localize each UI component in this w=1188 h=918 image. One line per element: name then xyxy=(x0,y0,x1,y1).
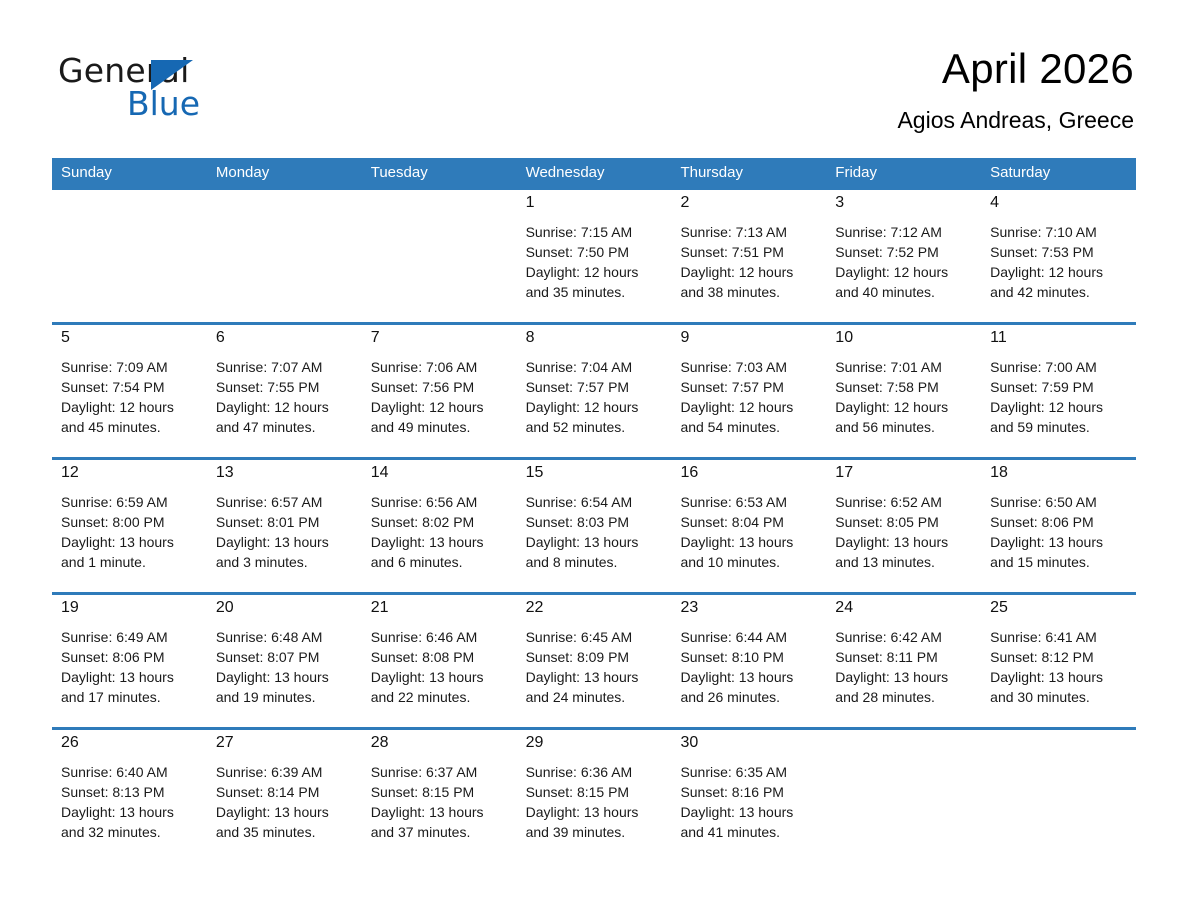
day-info: Sunrise: 7:01 AM Sunset: 7:58 PM Dayligh… xyxy=(835,357,975,437)
day-cell[interactable]: 1 Sunrise: 7:15 AM Sunset: 7:50 PM Dayli… xyxy=(517,190,672,322)
day-number: 20 xyxy=(216,598,234,618)
daylight-text-line1: Daylight: 12 hours xyxy=(526,397,666,417)
daylight-text-line1: Daylight: 12 hours xyxy=(835,262,975,282)
day-cell[interactable]: 19 Sunrise: 6:49 AM Sunset: 8:06 PM Dayl… xyxy=(52,595,207,727)
week-row: 5 Sunrise: 7:09 AM Sunset: 7:54 PM Dayli… xyxy=(52,322,1136,457)
day-cell[interactable]: 17 Sunrise: 6:52 AM Sunset: 8:05 PM Dayl… xyxy=(826,460,981,592)
daylight-text-line2: and 32 minutes. xyxy=(61,822,201,842)
day-number: 28 xyxy=(371,733,389,753)
sunset-text: Sunset: 8:00 PM xyxy=(61,512,201,532)
sunset-text: Sunset: 7:59 PM xyxy=(990,377,1130,397)
day-cell-empty xyxy=(52,190,207,322)
day-info: Sunrise: 6:35 AM Sunset: 8:16 PM Dayligh… xyxy=(680,762,820,842)
day-cell[interactable]: 14 Sunrise: 6:56 AM Sunset: 8:02 PM Dayl… xyxy=(362,460,517,592)
sunrise-text: Sunrise: 7:01 AM xyxy=(835,357,975,377)
sunrise-text: Sunrise: 6:48 AM xyxy=(216,627,356,647)
day-cell[interactable]: 16 Sunrise: 6:53 AM Sunset: 8:04 PM Dayl… xyxy=(671,460,826,592)
day-number: 15 xyxy=(526,463,544,483)
daylight-text-line2: and 13 minutes. xyxy=(835,552,975,572)
daylight-text-line1: Daylight: 13 hours xyxy=(61,802,201,822)
day-number: 18 xyxy=(990,463,1008,483)
daylight-text-line2: and 30 minutes. xyxy=(990,687,1130,707)
sunset-text: Sunset: 7:53 PM xyxy=(990,242,1130,262)
page-header: General Blue April 2026 Agios Andreas, G… xyxy=(0,0,1188,150)
day-info: Sunrise: 7:09 AM Sunset: 7:54 PM Dayligh… xyxy=(61,357,201,437)
sunrise-text: Sunrise: 7:15 AM xyxy=(526,222,666,242)
sunset-text: Sunset: 8:15 PM xyxy=(526,782,666,802)
daylight-text-line2: and 26 minutes. xyxy=(680,687,820,707)
daylight-text-line2: and 10 minutes. xyxy=(680,552,820,572)
daylight-text-line2: and 8 minutes. xyxy=(526,552,666,572)
sunset-text: Sunset: 8:08 PM xyxy=(371,647,511,667)
sunset-text: Sunset: 8:12 PM xyxy=(990,647,1130,667)
day-cell[interactable]: 5 Sunrise: 7:09 AM Sunset: 7:54 PM Dayli… xyxy=(52,325,207,457)
day-number: 21 xyxy=(371,598,389,618)
sunrise-text: Sunrise: 6:46 AM xyxy=(371,627,511,647)
daylight-text-line1: Daylight: 13 hours xyxy=(371,532,511,552)
day-cell[interactable]: 9 Sunrise: 7:03 AM Sunset: 7:57 PM Dayli… xyxy=(671,325,826,457)
day-number: 1 xyxy=(526,193,535,213)
daylight-text-line1: Daylight: 12 hours xyxy=(371,397,511,417)
sunrise-text: Sunrise: 6:39 AM xyxy=(216,762,356,782)
day-cell[interactable]: 30 Sunrise: 6:35 AM Sunset: 8:16 PM Dayl… xyxy=(671,730,826,862)
day-cell[interactable]: 24 Sunrise: 6:42 AM Sunset: 8:11 PM Dayl… xyxy=(826,595,981,727)
day-number: 19 xyxy=(61,598,79,618)
day-cell[interactable]: 2 Sunrise: 7:13 AM Sunset: 7:51 PM Dayli… xyxy=(671,190,826,322)
sunset-text: Sunset: 7:51 PM xyxy=(680,242,820,262)
daylight-text-line2: and 35 minutes. xyxy=(216,822,356,842)
day-number: 13 xyxy=(216,463,234,483)
day-cell[interactable]: 12 Sunrise: 6:59 AM Sunset: 8:00 PM Dayl… xyxy=(52,460,207,592)
day-info: Sunrise: 6:57 AM Sunset: 8:01 PM Dayligh… xyxy=(216,492,356,572)
daylight-text-line1: Daylight: 13 hours xyxy=(526,802,666,822)
sunset-text: Sunset: 8:09 PM xyxy=(526,647,666,667)
daylight-text-line1: Daylight: 12 hours xyxy=(526,262,666,282)
sunrise-text: Sunrise: 6:59 AM xyxy=(61,492,201,512)
weekday-header-wednesday: Wednesday xyxy=(517,164,672,182)
day-info: Sunrise: 7:10 AM Sunset: 7:53 PM Dayligh… xyxy=(990,222,1130,302)
day-number: 14 xyxy=(371,463,389,483)
sunset-text: Sunset: 8:07 PM xyxy=(216,647,356,667)
day-info: Sunrise: 6:44 AM Sunset: 8:10 PM Dayligh… xyxy=(680,627,820,707)
day-info: Sunrise: 7:07 AM Sunset: 7:55 PM Dayligh… xyxy=(216,357,356,437)
daylight-text-line2: and 15 minutes. xyxy=(990,552,1130,572)
day-number: 29 xyxy=(526,733,544,753)
day-info: Sunrise: 6:53 AM Sunset: 8:04 PM Dayligh… xyxy=(680,492,820,572)
day-number: 9 xyxy=(680,328,689,348)
daylight-text-line2: and 59 minutes. xyxy=(990,417,1130,437)
day-number: 22 xyxy=(526,598,544,618)
day-info: Sunrise: 6:42 AM Sunset: 8:11 PM Dayligh… xyxy=(835,627,975,707)
daylight-text-line1: Daylight: 13 hours xyxy=(216,532,356,552)
daylight-text-line1: Daylight: 12 hours xyxy=(990,262,1130,282)
sunrise-text: Sunrise: 6:56 AM xyxy=(371,492,511,512)
sunset-text: Sunset: 8:02 PM xyxy=(371,512,511,532)
sunrise-text: Sunrise: 7:03 AM xyxy=(680,357,820,377)
day-info: Sunrise: 6:41 AM Sunset: 8:12 PM Dayligh… xyxy=(990,627,1130,707)
title-block: April 2026 Agios Andreas, Greece xyxy=(897,44,1134,134)
weekday-header-sunday: Sunday xyxy=(52,164,207,182)
sunset-text: Sunset: 7:52 PM xyxy=(835,242,975,262)
sunset-text: Sunset: 8:15 PM xyxy=(371,782,511,802)
day-cell-empty xyxy=(981,730,1136,862)
day-cell[interactable]: 11 Sunrise: 7:00 AM Sunset: 7:59 PM Dayl… xyxy=(981,325,1136,457)
weekday-header-friday: Friday xyxy=(826,164,981,182)
daylight-text-line2: and 39 minutes. xyxy=(526,822,666,842)
day-number: 2 xyxy=(680,193,689,213)
sunset-text: Sunset: 8:05 PM xyxy=(835,512,975,532)
day-info: Sunrise: 7:15 AM Sunset: 7:50 PM Dayligh… xyxy=(526,222,666,302)
logo-text-blue: Blue xyxy=(127,85,200,123)
sunset-text: Sunset: 7:54 PM xyxy=(61,377,201,397)
daylight-text-line1: Daylight: 12 hours xyxy=(680,262,820,282)
sunset-text: Sunset: 8:16 PM xyxy=(680,782,820,802)
daylight-text-line1: Daylight: 13 hours xyxy=(371,802,511,822)
sunset-text: Sunset: 8:06 PM xyxy=(990,512,1130,532)
daylight-text-line1: Daylight: 13 hours xyxy=(61,667,201,687)
day-info: Sunrise: 6:39 AM Sunset: 8:14 PM Dayligh… xyxy=(216,762,356,842)
day-cell[interactable]: 23 Sunrise: 6:44 AM Sunset: 8:10 PM Dayl… xyxy=(671,595,826,727)
day-cell[interactable]: 27 Sunrise: 6:39 AM Sunset: 8:14 PM Dayl… xyxy=(207,730,362,862)
daylight-text-line2: and 42 minutes. xyxy=(990,282,1130,302)
daylight-text-line1: Daylight: 13 hours xyxy=(990,532,1130,552)
daylight-text-line1: Daylight: 13 hours xyxy=(680,532,820,552)
day-number: 7 xyxy=(371,328,380,348)
sunrise-text: Sunrise: 7:00 AM xyxy=(990,357,1130,377)
day-number: 3 xyxy=(835,193,844,213)
day-number: 6 xyxy=(216,328,225,348)
daylight-text-line2: and 49 minutes. xyxy=(371,417,511,437)
day-cell[interactable]: 8 Sunrise: 7:04 AM Sunset: 7:57 PM Dayli… xyxy=(517,325,672,457)
general-blue-logo[interactable]: General Blue xyxy=(58,52,378,132)
daylight-text-line2: and 54 minutes. xyxy=(680,417,820,437)
daylight-text-line1: Daylight: 13 hours xyxy=(526,532,666,552)
weekday-header-monday: Monday xyxy=(207,164,362,182)
day-info: Sunrise: 7:12 AM Sunset: 7:52 PM Dayligh… xyxy=(835,222,975,302)
daylight-text-line1: Daylight: 12 hours xyxy=(835,397,975,417)
daylight-text-line2: and 19 minutes. xyxy=(216,687,356,707)
daylight-text-line1: Daylight: 12 hours xyxy=(61,397,201,417)
sunset-text: Sunset: 7:57 PM xyxy=(526,377,666,397)
day-cell-empty xyxy=(362,190,517,322)
day-info: Sunrise: 7:04 AM Sunset: 7:57 PM Dayligh… xyxy=(526,357,666,437)
day-number: 30 xyxy=(680,733,698,753)
sunset-text: Sunset: 8:01 PM xyxy=(216,512,356,532)
sunset-text: Sunset: 7:57 PM xyxy=(680,377,820,397)
day-cell[interactable]: 10 Sunrise: 7:01 AM Sunset: 7:58 PM Dayl… xyxy=(826,325,981,457)
daylight-text-line1: Daylight: 13 hours xyxy=(371,667,511,687)
daylight-text-line2: and 38 minutes. xyxy=(680,282,820,302)
daylight-text-line1: Daylight: 12 hours xyxy=(990,397,1130,417)
calendar-grid: Sunday Monday Tuesday Wednesday Thursday… xyxy=(52,158,1136,862)
day-number: 27 xyxy=(216,733,234,753)
sunrise-text: Sunrise: 7:12 AM xyxy=(835,222,975,242)
day-info: Sunrise: 7:06 AM Sunset: 7:56 PM Dayligh… xyxy=(371,357,511,437)
daylight-text-line2: and 37 minutes. xyxy=(371,822,511,842)
day-cell[interactable]: 18 Sunrise: 6:50 AM Sunset: 8:06 PM Dayl… xyxy=(981,460,1136,592)
week-row: 1 Sunrise: 7:15 AM Sunset: 7:50 PM Dayli… xyxy=(52,187,1136,322)
sunset-text: Sunset: 7:56 PM xyxy=(371,377,511,397)
sunrise-text: Sunrise: 6:36 AM xyxy=(526,762,666,782)
day-number: 10 xyxy=(835,328,853,348)
daylight-text-line2: and 24 minutes. xyxy=(526,687,666,707)
daylight-text-line1: Daylight: 13 hours xyxy=(61,532,201,552)
week-row: 12 Sunrise: 6:59 AM Sunset: 8:00 PM Dayl… xyxy=(52,457,1136,592)
day-number: 25 xyxy=(990,598,1008,618)
weekday-header-saturday: Saturday xyxy=(981,164,1136,182)
day-number: 11 xyxy=(990,328,1007,348)
sunrise-text: Sunrise: 6:44 AM xyxy=(680,627,820,647)
day-info: Sunrise: 6:46 AM Sunset: 8:08 PM Dayligh… xyxy=(371,627,511,707)
sunrise-text: Sunrise: 7:10 AM xyxy=(990,222,1130,242)
day-number: 26 xyxy=(61,733,79,753)
daylight-text-line1: Daylight: 13 hours xyxy=(835,667,975,687)
day-number: 12 xyxy=(61,463,79,483)
daylight-text-line1: Daylight: 13 hours xyxy=(680,667,820,687)
daylight-text-line2: and 35 minutes. xyxy=(526,282,666,302)
sunset-text: Sunset: 8:14 PM xyxy=(216,782,356,802)
day-info: Sunrise: 7:00 AM Sunset: 7:59 PM Dayligh… xyxy=(990,357,1130,437)
sunset-text: Sunset: 7:58 PM xyxy=(835,377,975,397)
daylight-text-line2: and 45 minutes. xyxy=(61,417,201,437)
day-info: Sunrise: 6:40 AM Sunset: 8:13 PM Dayligh… xyxy=(61,762,201,842)
week-row: 19 Sunrise: 6:49 AM Sunset: 8:06 PM Dayl… xyxy=(52,592,1136,727)
sunrise-text: Sunrise: 6:50 AM xyxy=(990,492,1130,512)
day-cell[interactable]: 3 Sunrise: 7:12 AM Sunset: 7:52 PM Dayli… xyxy=(826,190,981,322)
daylight-text-line1: Daylight: 13 hours xyxy=(680,802,820,822)
daylight-text-line1: Daylight: 12 hours xyxy=(216,397,356,417)
sunset-text: Sunset: 7:50 PM xyxy=(526,242,666,262)
day-cell-empty xyxy=(826,730,981,862)
day-info: Sunrise: 6:56 AM Sunset: 8:02 PM Dayligh… xyxy=(371,492,511,572)
day-number: 24 xyxy=(835,598,853,618)
sunrise-text: Sunrise: 7:09 AM xyxy=(61,357,201,377)
day-cell[interactable]: 22 Sunrise: 6:45 AM Sunset: 8:09 PM Dayl… xyxy=(517,595,672,727)
day-cell[interactable]: 26 Sunrise: 6:40 AM Sunset: 8:13 PM Dayl… xyxy=(52,730,207,862)
day-cell[interactable]: 29 Sunrise: 6:36 AM Sunset: 8:15 PM Dayl… xyxy=(517,730,672,862)
sunset-text: Sunset: 8:04 PM xyxy=(680,512,820,532)
day-cell[interactable]: 25 Sunrise: 6:41 AM Sunset: 8:12 PM Dayl… xyxy=(981,595,1136,727)
daylight-text-line2: and 17 minutes. xyxy=(61,687,201,707)
sunset-text: Sunset: 8:06 PM xyxy=(61,647,201,667)
sunrise-text: Sunrise: 6:53 AM xyxy=(680,492,820,512)
day-info: Sunrise: 6:49 AM Sunset: 8:06 PM Dayligh… xyxy=(61,627,201,707)
day-cell[interactable]: 28 Sunrise: 6:37 AM Sunset: 8:15 PM Dayl… xyxy=(362,730,517,862)
day-info: Sunrise: 6:52 AM Sunset: 8:05 PM Dayligh… xyxy=(835,492,975,572)
weekday-header-thursday: Thursday xyxy=(671,164,826,182)
day-cell[interactable]: 13 Sunrise: 6:57 AM Sunset: 8:01 PM Dayl… xyxy=(207,460,362,592)
day-number: 5 xyxy=(61,328,70,348)
day-cell[interactable]: 21 Sunrise: 6:46 AM Sunset: 8:08 PM Dayl… xyxy=(362,595,517,727)
day-info: Sunrise: 6:36 AM Sunset: 8:15 PM Dayligh… xyxy=(526,762,666,842)
daylight-text-line2: and 56 minutes. xyxy=(835,417,975,437)
day-cell[interactable]: 4 Sunrise: 7:10 AM Sunset: 7:53 PM Dayli… xyxy=(981,190,1136,322)
daylight-text-line1: Daylight: 13 hours xyxy=(835,532,975,552)
sunrise-text: Sunrise: 6:42 AM xyxy=(835,627,975,647)
day-info: Sunrise: 7:13 AM Sunset: 7:51 PM Dayligh… xyxy=(680,222,820,302)
day-number: 4 xyxy=(990,193,999,213)
day-cell[interactable]: 15 Sunrise: 6:54 AM Sunset: 8:03 PM Dayl… xyxy=(517,460,672,592)
day-cell[interactable]: 7 Sunrise: 7:06 AM Sunset: 7:56 PM Dayli… xyxy=(362,325,517,457)
sunrise-text: Sunrise: 6:40 AM xyxy=(61,762,201,782)
sunrise-text: Sunrise: 7:04 AM xyxy=(526,357,666,377)
daylight-text-line2: and 52 minutes. xyxy=(526,417,666,437)
sunset-text: Sunset: 8:03 PM xyxy=(526,512,666,532)
day-number: 17 xyxy=(835,463,853,483)
sunset-text: Sunset: 8:11 PM xyxy=(835,647,975,667)
daylight-text-line1: Daylight: 13 hours xyxy=(990,667,1130,687)
daylight-text-line2: and 40 minutes. xyxy=(835,282,975,302)
daylight-text-line2: and 28 minutes. xyxy=(835,687,975,707)
sunrise-text: Sunrise: 6:45 AM xyxy=(526,627,666,647)
week-row: 26 Sunrise: 6:40 AM Sunset: 8:13 PM Dayl… xyxy=(52,727,1136,862)
day-info: Sunrise: 6:37 AM Sunset: 8:15 PM Dayligh… xyxy=(371,762,511,842)
calendar-page: General Blue April 2026 Agios Andreas, G… xyxy=(0,0,1188,918)
daylight-text-line2: and 47 minutes. xyxy=(216,417,356,437)
day-info: Sunrise: 6:45 AM Sunset: 8:09 PM Dayligh… xyxy=(526,627,666,707)
sunset-text: Sunset: 7:55 PM xyxy=(216,377,356,397)
sunrise-text: Sunrise: 7:06 AM xyxy=(371,357,511,377)
daylight-text-line2: and 6 minutes. xyxy=(371,552,511,572)
daylight-text-line1: Daylight: 13 hours xyxy=(216,802,356,822)
sunrise-text: Sunrise: 7:07 AM xyxy=(216,357,356,377)
daylight-text-line2: and 1 minute. xyxy=(61,552,201,572)
sunrise-text: Sunrise: 6:54 AM xyxy=(526,492,666,512)
sunset-text: Sunset: 8:13 PM xyxy=(61,782,201,802)
daylight-text-line1: Daylight: 13 hours xyxy=(526,667,666,687)
sunrise-text: Sunrise: 6:57 AM xyxy=(216,492,356,512)
day-info: Sunrise: 6:54 AM Sunset: 8:03 PM Dayligh… xyxy=(526,492,666,572)
sunrise-text: Sunrise: 6:52 AM xyxy=(835,492,975,512)
day-info: Sunrise: 6:50 AM Sunset: 8:06 PM Dayligh… xyxy=(990,492,1130,572)
day-number: 23 xyxy=(680,598,698,618)
sunrise-text: Sunrise: 6:35 AM xyxy=(680,762,820,782)
sunrise-text: Sunrise: 7:13 AM xyxy=(680,222,820,242)
day-info: Sunrise: 6:59 AM Sunset: 8:00 PM Dayligh… xyxy=(61,492,201,572)
page-title: April 2026 xyxy=(897,44,1134,94)
day-cell[interactable]: 20 Sunrise: 6:48 AM Sunset: 8:07 PM Dayl… xyxy=(207,595,362,727)
sunset-text: Sunset: 8:10 PM xyxy=(680,647,820,667)
daylight-text-line2: and 3 minutes. xyxy=(216,552,356,572)
day-cell-empty xyxy=(207,190,362,322)
daylight-text-line2: and 22 minutes. xyxy=(371,687,511,707)
page-subtitle: Agios Andreas, Greece xyxy=(897,106,1134,134)
day-number: 8 xyxy=(526,328,535,348)
sunrise-text: Sunrise: 6:49 AM xyxy=(61,627,201,647)
day-cell[interactable]: 6 Sunrise: 7:07 AM Sunset: 7:55 PM Dayli… xyxy=(207,325,362,457)
daylight-text-line1: Daylight: 12 hours xyxy=(680,397,820,417)
sunrise-text: Sunrise: 6:41 AM xyxy=(990,627,1130,647)
day-info: Sunrise: 7:03 AM Sunset: 7:57 PM Dayligh… xyxy=(680,357,820,437)
day-number: 16 xyxy=(680,463,698,483)
weekday-header-tuesday: Tuesday xyxy=(362,164,517,182)
daylight-text-line2: and 41 minutes. xyxy=(680,822,820,842)
day-info: Sunrise: 6:48 AM Sunset: 8:07 PM Dayligh… xyxy=(216,627,356,707)
daylight-text-line1: Daylight: 13 hours xyxy=(216,667,356,687)
weekday-header-row: Sunday Monday Tuesday Wednesday Thursday… xyxy=(52,158,1136,187)
sunrise-text: Sunrise: 6:37 AM xyxy=(371,762,511,782)
